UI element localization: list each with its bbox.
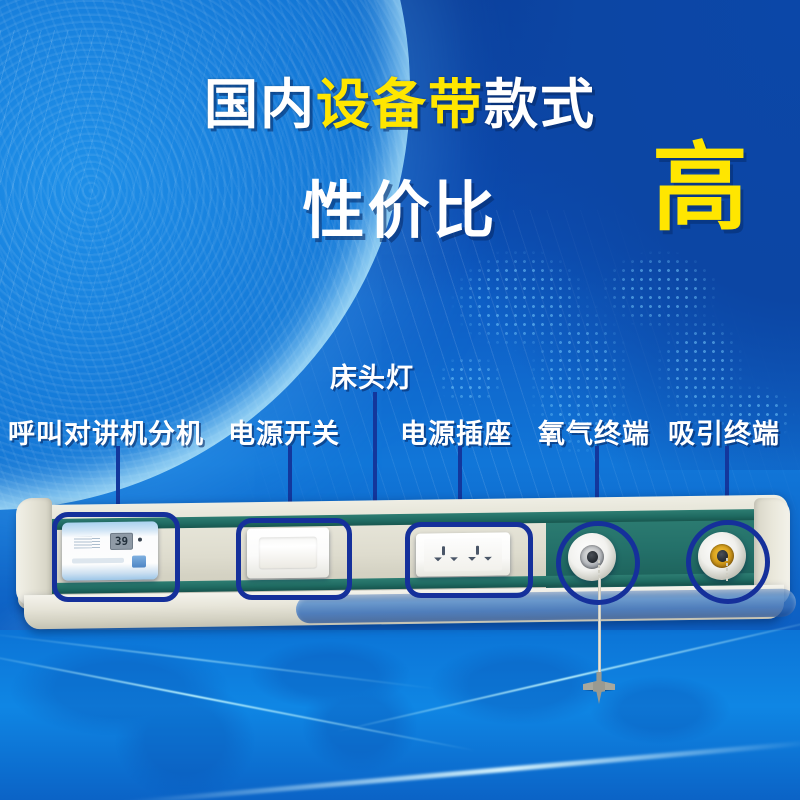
callout-label-5: 氧气终端 (538, 412, 650, 451)
callout-label-1: 呼叫对讲机分机 (8, 412, 204, 451)
promo-image-canvas: 国内设备带款式 性价比 高 呼叫对讲机分机电源开关床头灯电源插座氧气终端吸引终端… (0, 0, 800, 800)
highlight-suction (686, 520, 770, 604)
panel-end-cap-left (16, 498, 52, 607)
callout-label-2: 电源开关 (228, 412, 340, 451)
highlight-intercom (52, 512, 180, 602)
highlight-switch (236, 518, 352, 600)
highlight-socket (405, 522, 533, 598)
highlight-oxygen (556, 521, 640, 605)
callout-label-3: 床头灯 (330, 356, 414, 395)
callout-label-4: 电源插座 (400, 412, 512, 451)
headline-accent-gao: 高 (652, 140, 748, 236)
callout-label-6: 吸引终端 (668, 412, 780, 451)
